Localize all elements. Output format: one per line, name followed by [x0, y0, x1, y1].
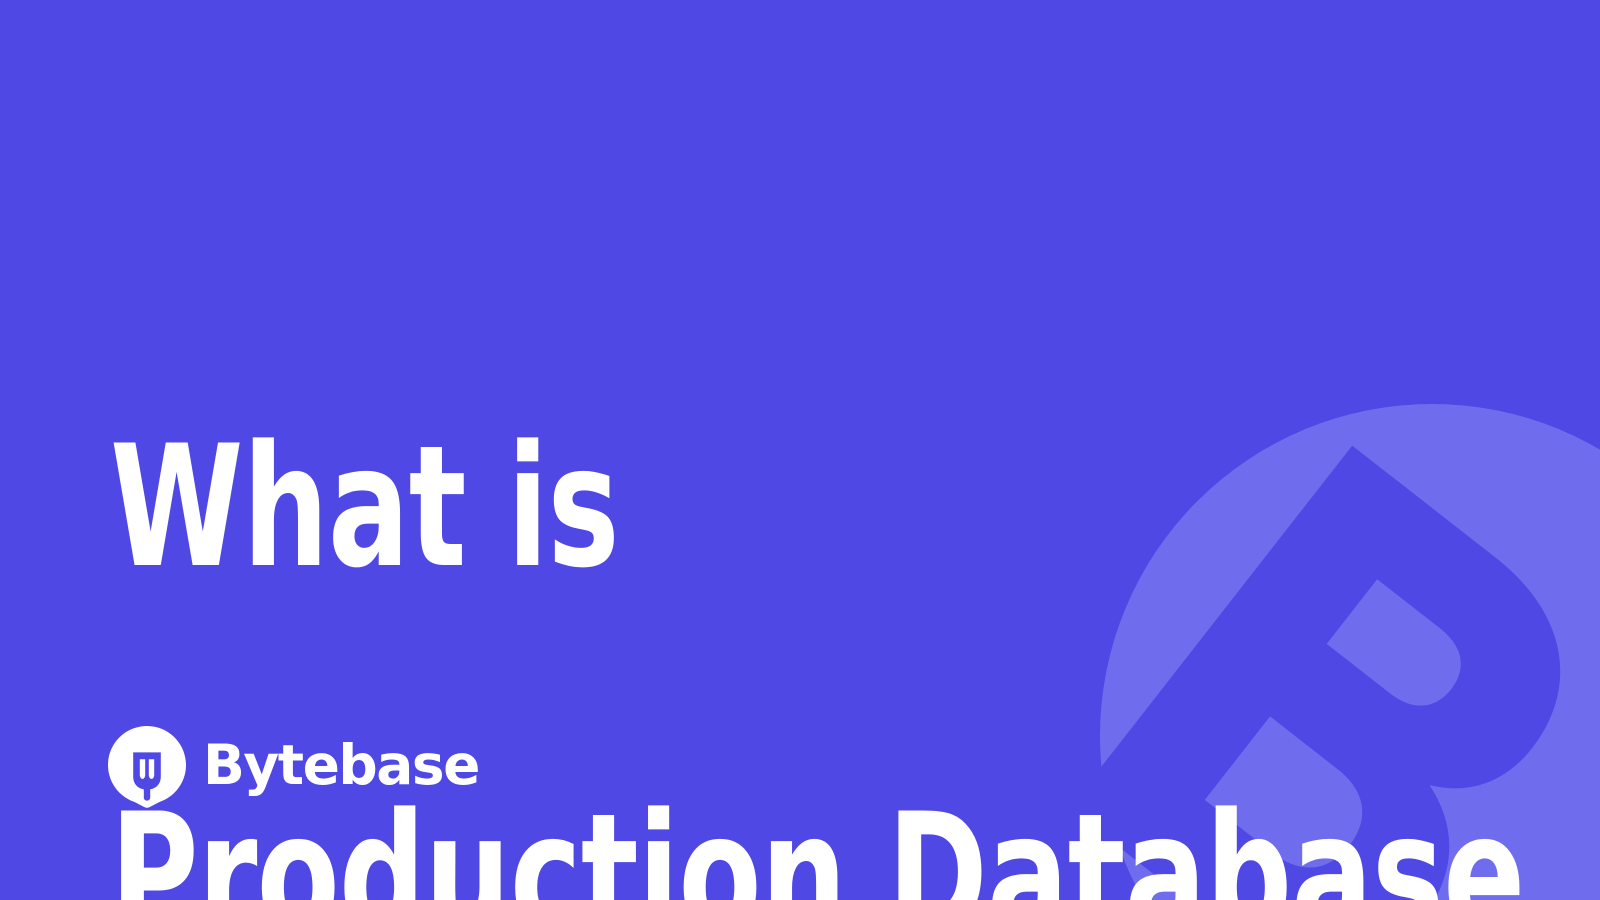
bytebase-logo-mark-icon [108, 726, 186, 808]
brand-wordmark: Bytebase [203, 738, 479, 793]
share-card-canvas: What is Production Database Bytebase [0, 0, 1600, 900]
page-title-line-1: What is [110, 415, 1198, 599]
brand-logo-lockup: Bytebase [108, 726, 479, 808]
